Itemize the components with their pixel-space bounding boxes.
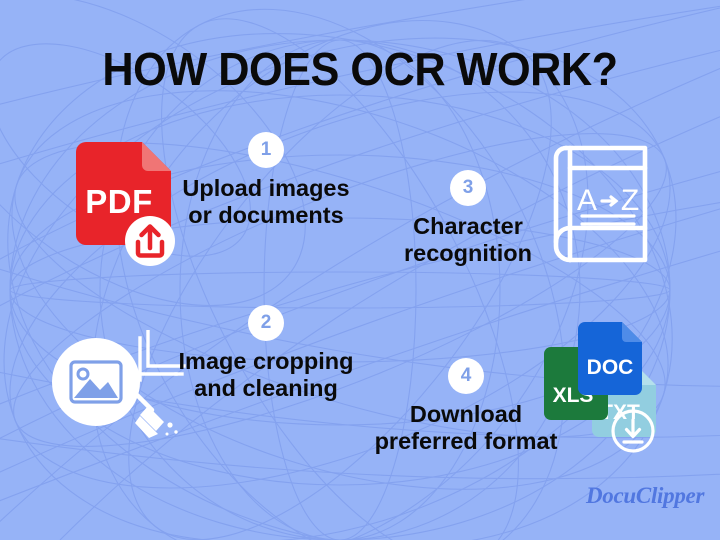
step-2-label-line2: and cleaning <box>158 375 374 402</box>
step-2: 2 Image cropping and cleaning <box>158 305 374 402</box>
infographic-poster: HOW DOES OCR WORK? PDF <box>0 0 720 540</box>
step-1-badge: 1 <box>248 132 284 168</box>
svg-text:DOC: DOC <box>587 356 634 379</box>
docuclipper-logo: DocuClipper <box>586 483 704 509</box>
step-3-label-line2: recognition <box>386 240 550 267</box>
book-letter-a: A <box>577 184 597 217</box>
page-title: HOW DOES OCR WORK? <box>22 42 699 96</box>
step-1-label-line1: Upload images <box>160 175 372 202</box>
step-3: 3 Character recognition <box>386 170 550 267</box>
step-4-label-line1: Download <box>362 401 570 428</box>
step-4-label-line2: preferred format <box>362 428 570 455</box>
step-3-badge: 3 <box>450 170 486 206</box>
step-1: 1 Upload images or documents <box>160 132 372 229</box>
book-letter-z: Z <box>621 184 639 217</box>
step-2-badge: 2 <box>248 305 284 341</box>
file-icon-doc: DOC <box>578 322 642 395</box>
step-1-label-line2: or documents <box>160 202 372 229</box>
step-3-label-line1: Character <box>386 213 550 240</box>
dictionary-book-icon: A Z <box>546 138 658 278</box>
step-4: 4 Download preferred format <box>362 358 570 455</box>
svg-text:PDF: PDF <box>85 183 153 220</box>
step-4-badge: 4 <box>448 358 484 394</box>
step-2-label-line1: Image cropping <box>158 348 374 375</box>
